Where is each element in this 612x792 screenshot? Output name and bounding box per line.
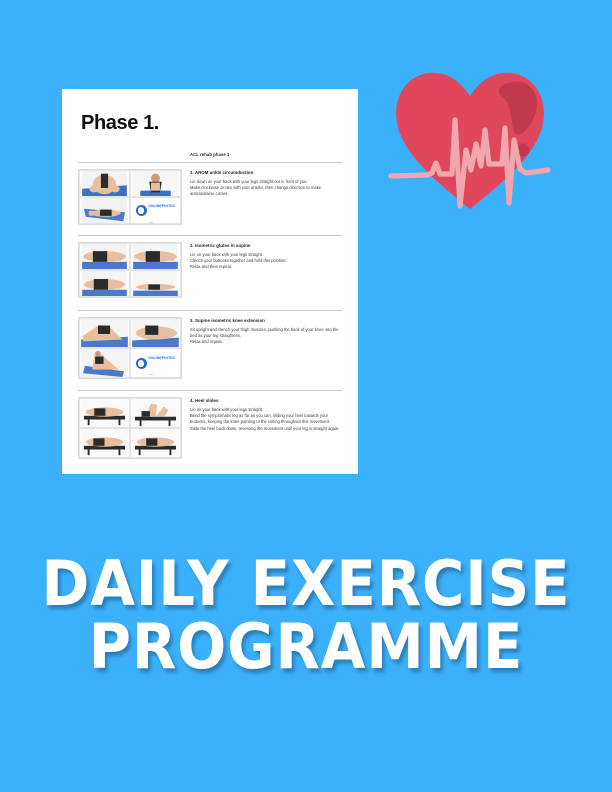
exercise-heading: 4. Heel slides [190,398,342,403]
logo-primary-text: ONLINEPHYSIO [148,204,175,208]
exercise-photo [130,243,181,270]
logo-primary-text: ONLINEPHYSIO [148,356,175,360]
divider [78,235,342,236]
exercise-photo [79,170,130,197]
exercise-line: Relax and repeat. [190,339,342,345]
exercise-heading: 1. AROM ankle circumduction [190,170,342,175]
onlinephysio-logo: ONLINEPHYSIO .com [130,348,181,378]
divider [78,390,342,391]
exercise-photo [79,428,130,458]
exercise-description: 3. Supine isometric knee extension Sit u… [190,317,342,346]
logo-mark-icon [136,358,147,369]
exercise-line: Sit upright and clench your thigh muscle… [190,327,342,333]
poster-title: DAILY EXERCISE PROGRAMME [21,552,590,678]
logo-mark-icon [136,205,147,216]
exercise-thumbnail-grid: ONLINEPHYSIO .com [78,169,182,225]
exercise-photo [130,428,181,458]
exercise-row: ONLINEPHYSIO .com 3. Supine isometric kn… [78,317,342,379]
exercise-photo [130,398,181,428]
exercise-photo [79,197,130,224]
exercise-photo [79,348,130,378]
exercise-row: ONLINEPHYSIO .com 1. AROM ankle circumdu… [78,169,342,225]
exercise-photo [130,170,181,197]
exercise-photo [79,318,130,348]
logo-text: ONLINEPHYSIO .com [148,197,175,224]
exercise-photo [79,398,130,428]
logo-text: ONLINEPHYSIO .com [148,348,175,378]
exercise-photo [130,270,181,297]
poster-title-line-1: DAILY EXERCISE [21,552,590,615]
exercise-photo [130,318,181,348]
exercise-line: anticlockwise circles. [190,191,342,197]
exercise-photo [79,270,130,297]
exercise-description: 2. Isometric glutes in supine Lie on you… [190,242,342,271]
heart-with-ecg-pulse-graphic [384,58,556,218]
exercise-line: Slide the heel back down, reversing the … [190,426,342,432]
exercise-photo [79,243,130,270]
exercise-thumbnail-grid: ONLINEPHYSIO .com [78,317,182,379]
logo-secondary-text: .com [148,374,153,376]
exercise-heading: 2. Isometric glutes in supine [190,243,342,248]
onlinephysio-logo: ONLINEPHYSIO .com [130,197,181,224]
divider [78,162,342,163]
poster-title-line-2: PROGRAMME [21,615,590,678]
logo-secondary-text: .com [148,222,153,224]
exercise-line: Relax and then repeat. [190,264,342,270]
page-title: Phase 1. [81,113,342,134]
exercise-thumbnail-grid [78,242,182,298]
exercise-line: buttocks, keeping the knee pointing to t… [190,419,342,425]
exercise-description: 1. AROM ankle circumduction Lie down on … [190,169,342,198]
divider [78,310,342,311]
exercise-description: 4. Heel slides Lie on your back with you… [190,397,342,432]
document-subtitle: ACL rehab phase 1 [190,152,342,157]
exercise-row: 2. Isometric glutes in supine Lie on you… [78,242,342,298]
exercise-thumbnail-grid [78,397,182,459]
exercise-heading: 3. Supine isometric knee extension [190,318,342,323]
exercise-row: 4. Heel slides Lie on your back with you… [78,397,342,459]
rehab-document-sheet: Phase 1. ACL rehab phase 1 [62,89,358,474]
